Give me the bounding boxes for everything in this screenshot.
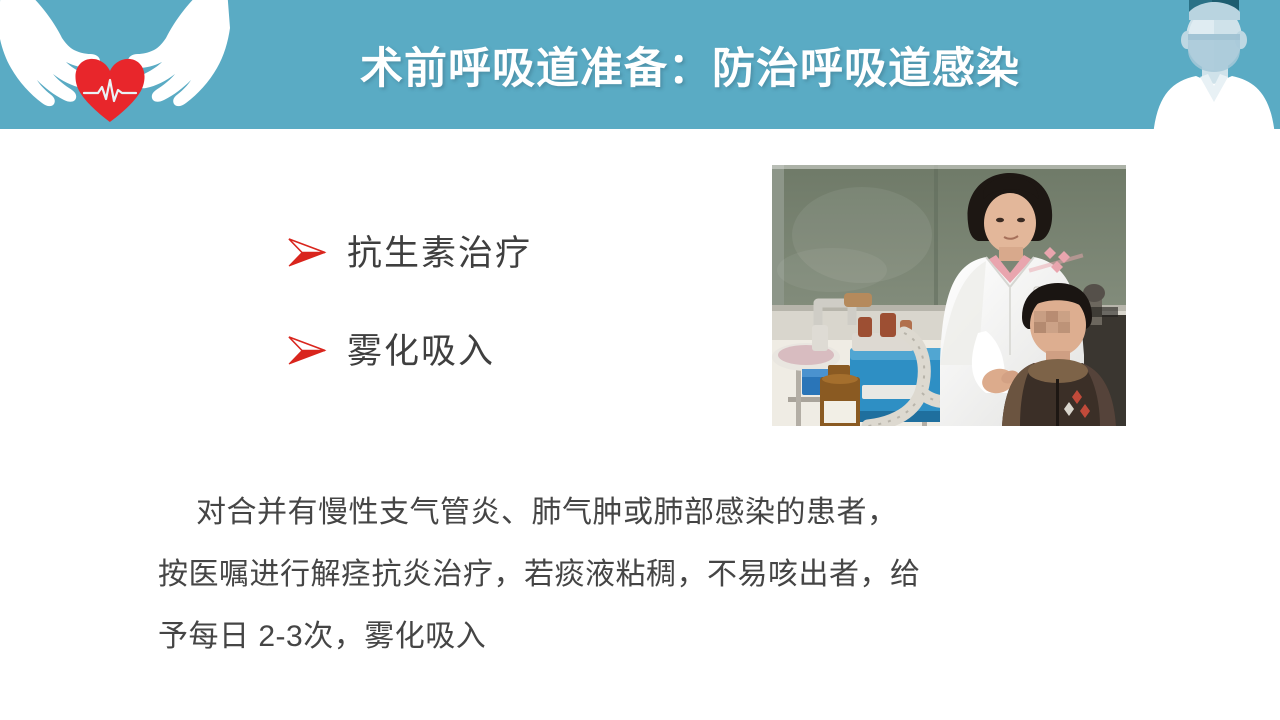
treatment-photo	[772, 165, 1126, 426]
paragraph-line-1: 对合并有慢性支气管炎、肺气肿或肺部感染的患者，	[158, 482, 1118, 544]
body-paragraph: 对合并有慢性支气管炎、肺气肿或肺部感染的患者， 按医嘱进行解痉抗炎治疗，若痰液粘…	[158, 482, 1118, 668]
masked-doctor-illustration	[1150, 0, 1280, 150]
heart-icon	[75, 59, 144, 122]
hands-and-heart-illustration	[0, 0, 230, 129]
bullet-label-nebulization: 雾化吸入	[347, 334, 495, 369]
page-title: 术前呼吸道准备：防治呼吸道感染	[230, 0, 1150, 129]
header-band: 术前呼吸道准备：防治呼吸道感染	[0, 0, 1280, 129]
arrow-bullet-icon	[285, 236, 347, 270]
bullet-list: 抗生素治疗 雾化吸入	[285, 222, 715, 418]
list-item: 雾化吸入	[285, 320, 715, 382]
arrow-bullet-icon	[285, 334, 347, 368]
slide-canvas: 术前呼吸道准备：防治呼吸道感染	[0, 0, 1280, 720]
bullet-label-antibiotics: 抗生素治疗	[347, 236, 532, 271]
paragraph-line-3: 予每日 2-3次，雾化吸入	[158, 606, 1118, 668]
paragraph-line-2: 按医嘱进行解痉抗炎治疗，若痰液粘稠，不易咳出者，给	[158, 544, 1118, 606]
list-item: 抗生素治疗	[285, 222, 715, 284]
